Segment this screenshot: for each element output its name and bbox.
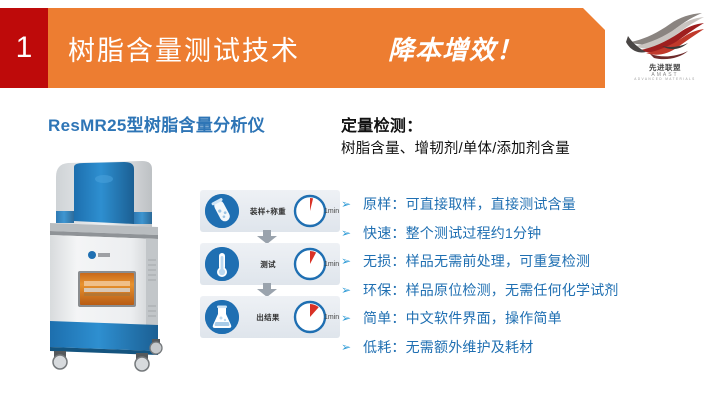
chevron-right-icon: ➢ [341,254,363,268]
section-number: 1 [16,31,33,65]
workflow-step-1-label: 装样+称重 [244,190,292,232]
workflow-step-3: 出结果 1min [200,296,340,338]
workflow-step-1: 装样+称重 1min [200,190,340,232]
feature-item-6-text: 低耗：无需额外维护及耗材 [363,337,533,357]
feature-item-5-text: 简单：中文软件界面，操作简单 [363,308,562,328]
workflow-step-2-label: 测试 [244,243,292,285]
workflow-step-2: 测试 1min [200,243,340,285]
clock-icon-step-1 [292,193,328,229]
feature-item-3-text: 无损：样品无需前处理，可重复检测 [363,251,590,271]
detection-heading: 定量检测： [341,112,423,136]
workflow-step-3-time: 1min [324,296,339,338]
feature-item-1-text: 原样：可直接取样，直接测试含量 [363,194,576,214]
workflow-diagram: 装样+称重 1min [200,190,340,340]
feature-list: ➢ 原样：可直接取样，直接测试含量 ➢ 快速：整个测试过程约1分钟 ➢ 无损：样… [341,190,716,361]
section-number-badge: 1 [0,8,48,88]
feature-item-2: ➢ 快速：整个测试过程约1分钟 [341,219,716,248]
header-slogan: 降本增效！ [388,8,523,88]
workflow-step-1-time: 1min [324,190,339,232]
feature-item-1: ➢ 原样：可直接取样，直接测试含量 [341,190,716,219]
eagle-logo-icon [622,12,708,62]
feature-item-4: ➢ 环保：样品原位检测，无需任何化学试剂 [341,276,716,305]
feature-item-4-text: 环保：样品原位检测，无需任何化学试剂 [363,280,619,300]
results-flask-icon [205,300,239,334]
chevron-right-icon: ➢ [341,340,363,354]
feature-item-2-text: 快速：整个测试过程约1分钟 [363,223,541,243]
chevron-right-icon: ➢ [341,311,363,325]
logo-cn-text: 先进联盟 [626,64,704,72]
workflow-arrow-1-icon [256,230,278,244]
workflow-step-3-label: 出结果 [244,296,292,338]
logo-tagline-text: ADVANCED MATERIALS [626,78,704,81]
sample-tube-icon [205,194,239,228]
chevron-right-icon: ➢ [341,197,363,211]
workflow-arrow-2-icon [256,283,278,297]
feature-item-6: ➢ 低耗：无需额外维护及耗材 [341,333,716,362]
thermometer-icon [205,247,239,281]
clock-icon-step-3 [292,299,328,335]
resmr25-analyzer-photo [34,155,194,373]
detection-subheading: 树脂含量、增韧剂/单体/添加剂含量 [341,137,570,158]
slide-root: 1 树脂含量测试技术 降本增效！ 先进联盟 AMAST ADVANCED MAT… [0,0,720,405]
workflow-step-2-time: 1min [324,243,339,285]
clock-icon-step-2 [292,246,328,282]
product-title: ResMR25型树脂含量分析仪 [48,111,265,136]
feature-item-5: ➢ 简单：中文软件界面，操作简单 [341,304,716,333]
chevron-right-icon: ➢ [341,283,363,297]
chevron-right-icon: ➢ [341,226,363,240]
page-title: 树脂含量测试技术 [68,8,300,88]
brand-logo: 先进联盟 AMAST ADVANCED MATERIALS [618,12,710,90]
logo-wordmark: 先进联盟 AMAST ADVANCED MATERIALS [626,64,704,81]
feature-item-3: ➢ 无损：样品无需前处理，可重复检测 [341,247,716,276]
